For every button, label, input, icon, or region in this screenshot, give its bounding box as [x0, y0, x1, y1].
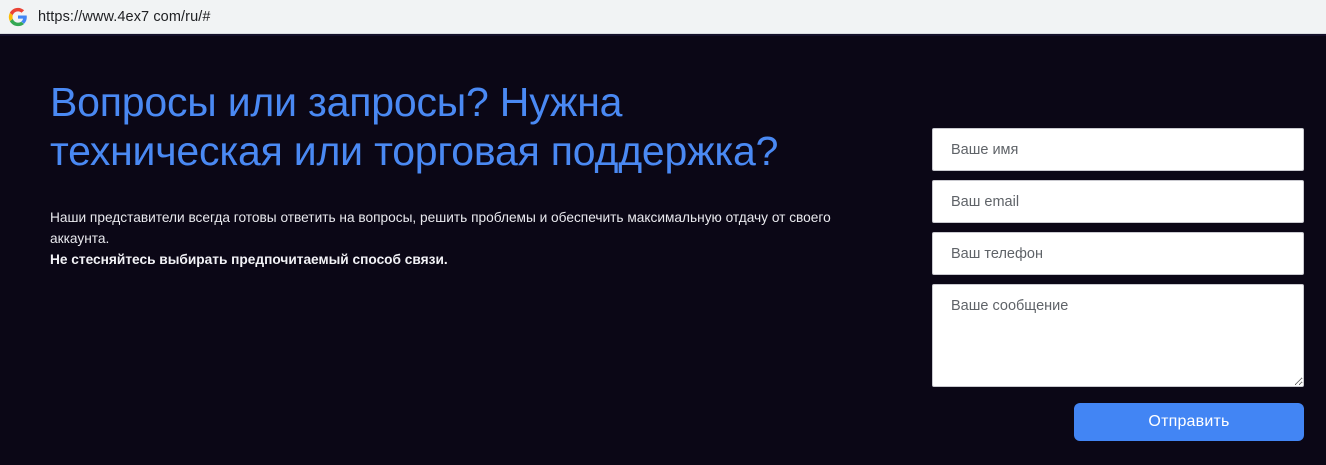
google-g-icon [8, 7, 28, 27]
contact-intro-section: Вопросы или запросы? Нужна техническая и… [50, 78, 880, 267]
contact-form: Отправить [932, 128, 1304, 441]
submit-row: Отправить [932, 403, 1304, 441]
message-textarea[interactable] [932, 284, 1304, 387]
browser-address-bar[interactable]: https://www.4ex7 com/ru/# [0, 0, 1326, 34]
submit-button[interactable]: Отправить [1074, 403, 1304, 441]
url-text: https://www.4ex7 com/ru/# [38, 9, 211, 25]
name-input[interactable] [932, 128, 1304, 171]
page-title: Вопросы или запросы? Нужна техническая и… [50, 78, 880, 176]
phone-input[interactable] [932, 232, 1304, 275]
email-input[interactable] [932, 180, 1304, 223]
intro-emphasis-text: Не стесняйтесь выбирать предпочитаемый с… [50, 252, 880, 267]
page-content: Вопросы или запросы? Нужна техническая и… [0, 34, 1326, 465]
intro-paragraph: Наши представители всегда готовы ответит… [50, 208, 850, 250]
